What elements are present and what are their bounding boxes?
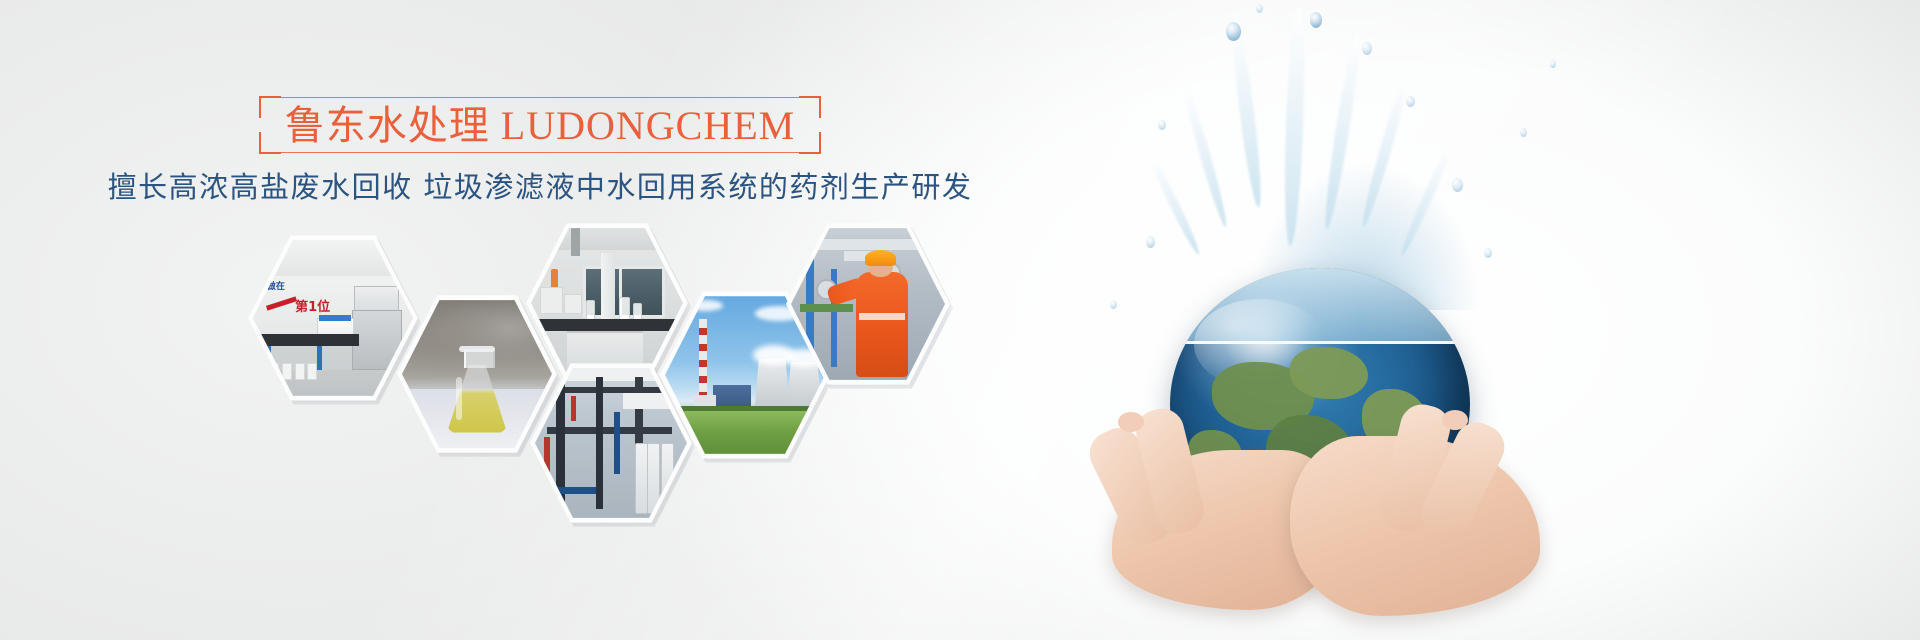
water-droplet (1146, 236, 1155, 248)
water-droplet (1550, 60, 1556, 68)
fingernail (1442, 410, 1468, 430)
banner-stage: 鲁东水处理 LUDONGCHEM 擅长高浓高盐废水回收 垃圾渗滤液中水回用系统的… (0, 0, 1920, 640)
page-title: 鲁东水处理 LUDONGCHEM (285, 102, 795, 150)
water-splash-globe-in-hands (1050, 0, 1920, 640)
bracket-top-left-icon (259, 96, 281, 118)
cupped-hands (1090, 390, 1560, 640)
water-droplet (1158, 120, 1166, 130)
water-droplet (1406, 96, 1415, 107)
water-droplet (1226, 22, 1241, 41)
water-droplet (1362, 42, 1372, 55)
wall-slogan: 做在 第1位 (264, 279, 331, 321)
hexagon-laboratory-pilot-plant[interactable]: 做在 第1位 (248, 232, 418, 404)
title-rule-bottom (269, 152, 811, 153)
title-rule-top (269, 97, 811, 98)
brand-title-box: 鲁东水处理 LUDONGCHEM (259, 96, 821, 154)
water-droplet (1256, 4, 1263, 13)
water-droplet (1520, 128, 1527, 137)
page-subtitle: 擅长高浓高盐废水回收 垃圾渗滤液中水回用系统的药剂生产研发 (0, 168, 1080, 206)
water-droplet (1484, 248, 1492, 258)
headline-block: 鲁东水处理 LUDONGCHEM 擅长高浓高盐废水回收 垃圾渗滤液中水回用系统的… (0, 96, 1080, 206)
water-droplet (1110, 300, 1117, 309)
water-droplet (1452, 178, 1463, 192)
fingernail (1118, 412, 1144, 432)
wall-slogan-line2: 第1位 (295, 296, 330, 315)
bracket-bottom-right-icon (799, 132, 821, 154)
water-droplet (1310, 12, 1322, 28)
arrow-icon (266, 296, 297, 310)
bracket-top-right-icon (799, 96, 821, 118)
bracket-bottom-left-icon (259, 132, 281, 154)
